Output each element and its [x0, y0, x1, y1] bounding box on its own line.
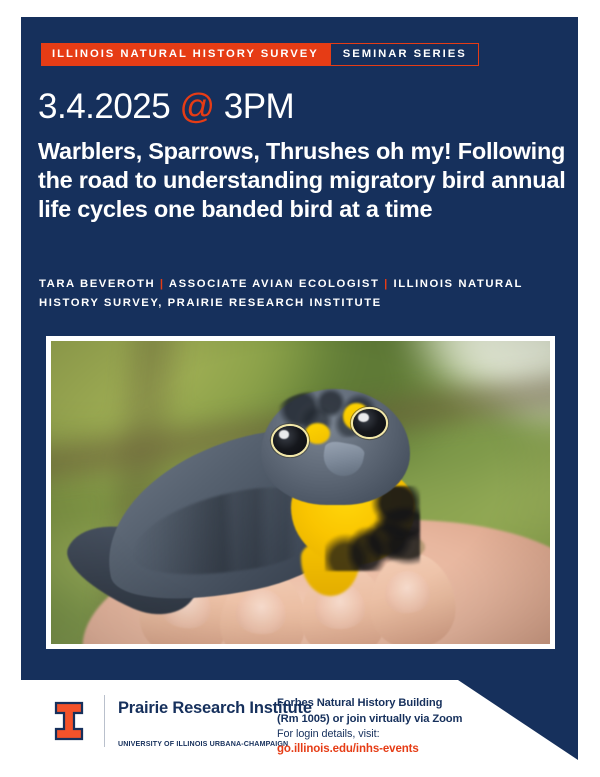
bird-photo: [51, 341, 550, 644]
speaker-separator-1: |: [160, 278, 165, 290]
event-url-link[interactable]: go.illinois.edu/inhs-events: [277, 743, 419, 755]
banner-series-label: SEMINAR SERIES: [343, 49, 467, 60]
speaker-separator-2: |: [384, 278, 389, 290]
venue-line-1: Forbes Natural History Building: [277, 696, 462, 712]
institute-tagline: UNIVERSITY OF ILLINOIS URBANA-CHAMPAIGN: [118, 740, 288, 748]
photo-vignette: [51, 341, 550, 644]
seminar-banner: ILLINOIS NATURAL HISTORY SURVEY SEMINAR …: [41, 43, 479, 66]
bird-photo-frame: [46, 336, 555, 649]
at-symbol: @: [179, 87, 214, 126]
event-time: 3PM: [224, 87, 294, 126]
venue-info: Forbes Natural History Building (Rm 1005…: [277, 696, 462, 728]
speaker-line: TARA BEVEROTH | ASSOCIATE AVIAN ECOLOGIS…: [39, 275, 549, 313]
banner-series-block: SEMINAR SERIES: [330, 43, 479, 66]
banner-org-block: ILLINOIS NATURAL HISTORY SURVEY: [41, 43, 330, 66]
speaker-role: ASSOCIATE AVIAN ECOLOGIST: [169, 278, 380, 290]
event-date: 3.4.2025: [38, 87, 170, 126]
speaker-name: TARA BEVEROTH: [39, 278, 155, 290]
event-datetime: 3.4.2025 @ 3PM: [38, 87, 294, 127]
login-note: For login details, visit:: [277, 728, 380, 740]
banner-org-label: ILLINOIS NATURAL HISTORY SURVEY: [52, 49, 319, 60]
logo-divider: [104, 695, 105, 747]
venue-line-2: (Rm 1005) or join virtually via Zoom: [277, 712, 462, 728]
seminar-poster: ILLINOIS NATURAL HISTORY SURVEY SEMINAR …: [21, 17, 578, 760]
talk-title: Warblers, Sparrows, Thrushes oh my! Foll…: [38, 137, 568, 224]
illinois-block-i-icon: [54, 701, 84, 741]
